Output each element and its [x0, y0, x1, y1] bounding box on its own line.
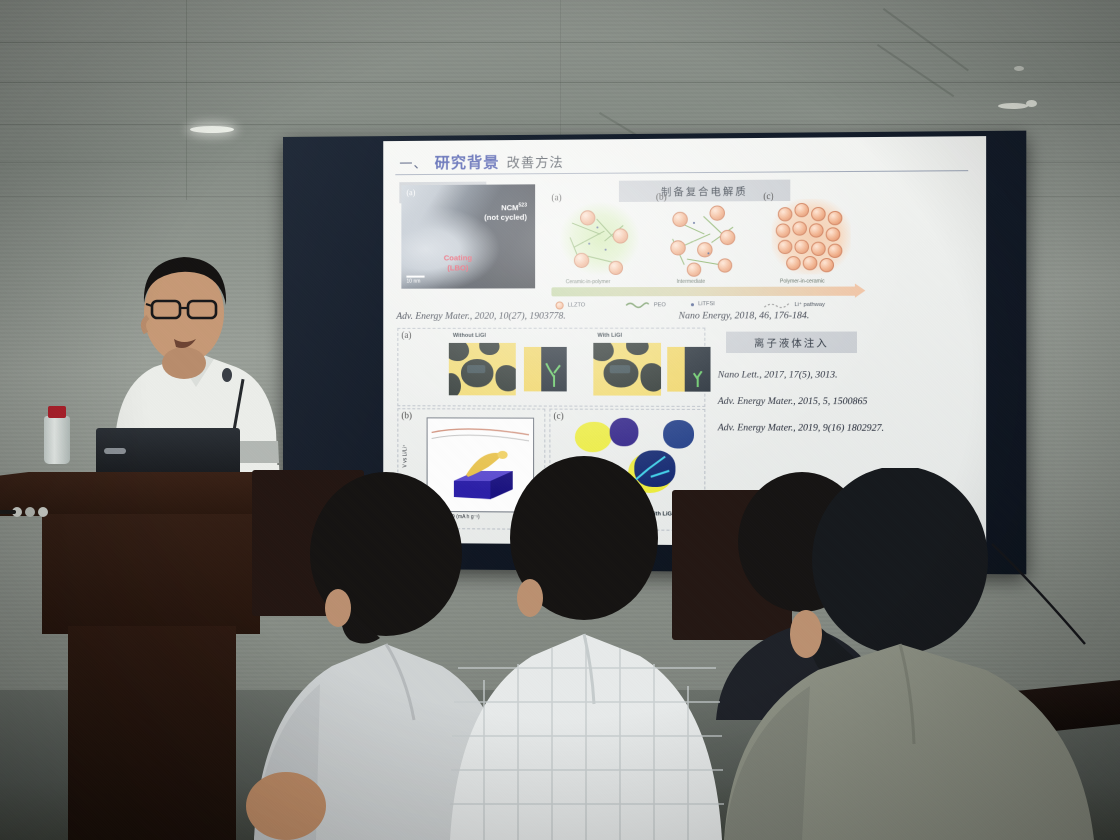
bottle-cap: [48, 406, 66, 418]
presenter-head: [118, 247, 248, 387]
ceiling-light-right-small: [1026, 100, 1037, 107]
water-bottle: [44, 416, 70, 464]
laptop-hinge-light: [104, 448, 126, 454]
ceiling-light-far: [1014, 66, 1024, 71]
attendee-front-center: [432, 452, 752, 840]
ceiling-light-left: [190, 126, 234, 133]
lectern-cable: [0, 510, 16, 514]
screenshot-root: 一、 研究背景 改善方法 表面包覆 制备复合电解质 (a) NCM523 (no…: [0, 0, 1120, 840]
lectern-body: [42, 514, 260, 634]
microphone-head: [222, 368, 232, 382]
lectern-column: [68, 626, 236, 840]
attendee-front-right: [714, 468, 1120, 840]
ceiling-light-right: [998, 103, 1028, 109]
lectern-controls[interactable]: [12, 506, 52, 518]
